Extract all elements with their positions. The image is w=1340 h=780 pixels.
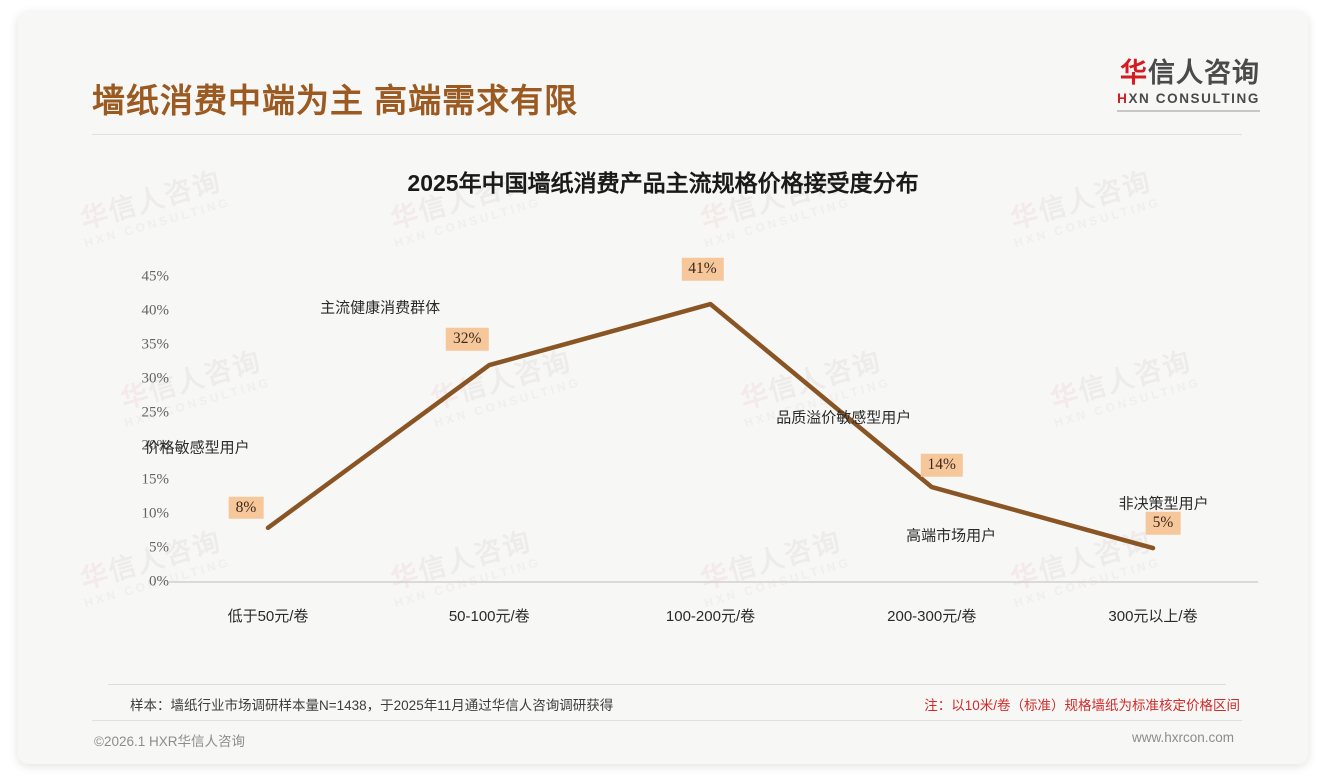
x-axis-tick: 50-100元/卷: [449, 605, 530, 626]
y-axis-tick: 5%: [89, 540, 169, 557]
header-divider: [92, 134, 1242, 135]
y-axis-tick: 35%: [89, 336, 169, 353]
chart-annotation: 高端市场用户: [906, 525, 996, 546]
x-axis-tick: 200-300元/卷: [887, 605, 976, 626]
logo-chinese-text: 华信人咨询: [1117, 58, 1260, 89]
logo-english-accent: H: [1117, 91, 1128, 106]
footnote-sample: 样本：墙纸行业市场调研样本量N=1438，于2025年11月通过华信人咨询调研获…: [130, 694, 613, 714]
y-axis-tick: 10%: [89, 506, 169, 523]
y-axis-tick: 25%: [89, 404, 169, 421]
y-axis-tick: 45%: [89, 269, 169, 286]
x-axis-tick: 100-200元/卷: [666, 605, 755, 626]
chart-annotation: 非决策型用户: [1119, 493, 1209, 514]
footnote-note: 注：以10米/卷（标准）规格墙纸为标准核定价格区间: [924, 694, 1240, 714]
page-title: 墙纸消费中端为主 高端需求有限: [92, 74, 578, 122]
website-link[interactable]: www.hxrcon.com: [1132, 730, 1234, 745]
copyright-text: ©2026.1 HXR华信人咨询: [94, 730, 245, 750]
data-point-label: 8%: [229, 497, 264, 520]
data-point-label: 32%: [446, 328, 488, 351]
watermark-english: HXN CONSULTING: [82, 193, 233, 253]
y-axis-tick: 40%: [89, 302, 169, 319]
logo-english-rest: XN CONSULTING: [1128, 91, 1260, 106]
slide-header: 墙纸消费中端为主 高端需求有限 华信人咨询 HXN CONSULTING: [18, 12, 1308, 138]
data-point-label: 5%: [1146, 512, 1181, 535]
watermark-english: HXN CONSULTING: [702, 193, 853, 253]
logo-english-text: HXN CONSULTING: [1117, 91, 1260, 106]
logo-chinese-rest: 信人咨询: [1148, 58, 1260, 88]
chart-annotation: 价格敏感型用户: [145, 437, 250, 458]
footnote-divider: [108, 684, 1226, 685]
chart-plot-area: 0%5%10%15%20%25%30%35%40%45% 低于50元/卷50-1…: [78, 257, 1258, 657]
company-logo: 华信人咨询 HXN CONSULTING: [1117, 58, 1260, 112]
chart-annotation: 品质溢价敏感型用户: [776, 407, 911, 428]
line-chart-svg: [78, 257, 1258, 657]
chart-annotation: 主流健康消费群体: [320, 297, 440, 318]
data-point-label: 14%: [921, 454, 963, 477]
watermark-english: HXN CONSULTING: [392, 193, 543, 253]
chart-title: 2025年中国墙纸消费产品主流规格价格接受度分布: [18, 164, 1308, 198]
data-series-line: [268, 304, 1153, 548]
y-axis-tick: 15%: [89, 472, 169, 489]
y-axis-tick: 30%: [89, 370, 169, 387]
data-point-label: 41%: [681, 258, 723, 281]
watermark-english: HXN CONSULTING: [1012, 193, 1163, 253]
y-axis-tick: 0%: [89, 574, 169, 591]
logo-accent-character: 华: [1120, 58, 1148, 88]
logo-underline: [1117, 110, 1260, 112]
x-axis-tick: 300元以上/卷: [1108, 605, 1197, 626]
x-axis-tick: 低于50元/卷: [228, 605, 309, 626]
footer-divider: [92, 720, 1242, 721]
slide-canvas: 华信人咨询HXN CONSULTING华信人咨询HXN CONSULTING华信…: [18, 12, 1308, 764]
